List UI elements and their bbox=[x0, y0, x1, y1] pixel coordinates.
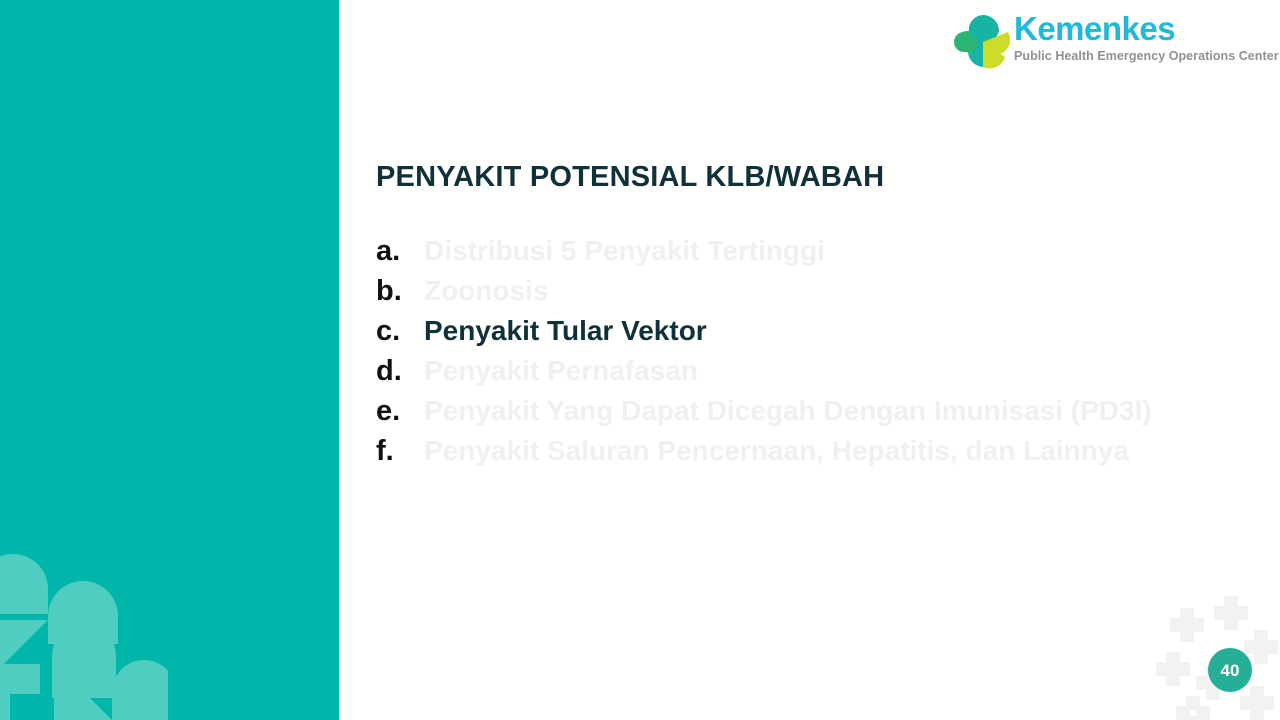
list-item-label: Penyakit Saluran Pencernaan, Hepatitis, … bbox=[424, 432, 1236, 470]
list-item-active[interactable]: c. Penyakit Tular Vektor bbox=[376, 312, 1236, 350]
slide-title: PENYAKIT POTENSIAL KLB/WABAH bbox=[376, 161, 884, 194]
list-item-label: Penyakit Pernafasan bbox=[424, 352, 1236, 390]
page-number-badge: 40 bbox=[1208, 648, 1252, 692]
list-item[interactable]: f. Penyakit Saluran Pencernaan, Hepatiti… bbox=[376, 432, 1236, 470]
slide-canvas: Kemenkes Public Health Emergency Operati… bbox=[0, 0, 1280, 720]
list-item[interactable]: d. Penyakit Pernafasan bbox=[376, 352, 1236, 390]
list-item-label: Distribusi 5 Penyakit Tertinggi bbox=[424, 232, 1236, 270]
slide-content: PENYAKIT POTENSIAL KLB/WABAH a. Distribu… bbox=[376, 0, 1236, 720]
list-item[interactable]: a. Distribusi 5 Penyakit Tertinggi bbox=[376, 232, 1236, 270]
list-item-marker: a. bbox=[376, 232, 424, 270]
list-item[interactable]: e. Penyakit Yang Dapat Dicegah Dengan Im… bbox=[376, 392, 1236, 430]
list-item-label: Penyakit Yang Dapat Dicegah Dengan Imuni… bbox=[424, 392, 1236, 430]
page-number-label: 40 bbox=[1221, 662, 1240, 679]
outline-list: a. Distribusi 5 Penyakit Tertinggi b. Zo… bbox=[376, 232, 1236, 472]
list-item-marker: d. bbox=[376, 352, 424, 390]
sidebar-decorative-shapes bbox=[0, 554, 168, 720]
list-item-marker: e. bbox=[376, 392, 424, 430]
list-item[interactable]: b. Zoonosis bbox=[376, 272, 1236, 310]
list-item-marker: b. bbox=[376, 272, 424, 310]
list-item-marker: c. bbox=[376, 312, 424, 350]
list-item-label: Zoonosis bbox=[424, 272, 1236, 310]
list-item-label: Penyakit Tular Vektor bbox=[424, 312, 1236, 350]
list-item-marker: f. bbox=[376, 432, 424, 470]
sidebar-accent-panel bbox=[0, 0, 339, 720]
